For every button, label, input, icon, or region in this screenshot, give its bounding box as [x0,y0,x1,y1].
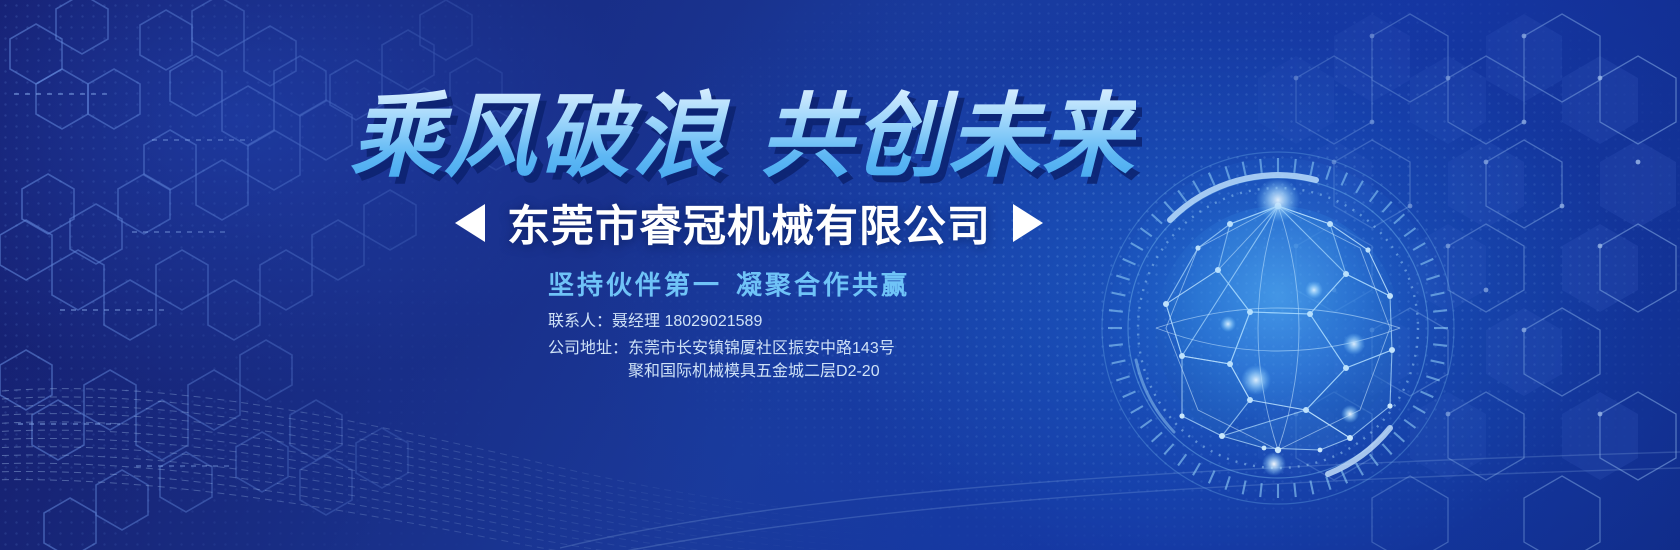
headline-part-2: 共创未来 [760,86,1136,188]
headline-part-1: 乘风破浪 [350,86,726,188]
company-address-label: 公司地址： [548,337,628,383]
company-address-value: 东莞市长安镇锦厦社区振安中路143号聚和国际机械模具五金城二层D2-20 [628,337,898,383]
contact-person-row: 联系人： 聂经理 18029021589 [548,310,898,333]
contact-person-label: 联系人： [548,310,612,333]
triangle-right-icon [1013,204,1043,242]
network-globe-graphic [1078,128,1478,528]
company-name-row: 东莞市睿冠机械有限公司 [455,192,1043,254]
promotional-banner: 乘风破浪共创未来 东莞市睿冠机械有限公司 坚持伙伴第一凝聚合作共赢 联系人： 聂… [0,0,1680,550]
banner-content: 乘风破浪共创未来 东莞市睿冠机械有限公司 坚持伙伴第一凝聚合作共赢 联系人： 聂… [0,0,1080,550]
company-name: 东莞市睿冠机械有限公司 [507,192,991,254]
contact-person-value: 聂经理 18029021589 [612,310,762,333]
slogan-part-2: 凝聚合作共赢 [736,270,910,300]
company-address-row: 公司地址： 东莞市长安镇锦厦社区振安中路143号聚和国际机械模具五金城二层D2-… [548,337,898,383]
triangle-left-icon [455,204,485,242]
slogan-part-1: 坚持伙伴第一 [548,270,722,300]
globe-glow [1108,158,1448,498]
page-title: 乘风破浪共创未来 [350,62,1136,195]
contact-info: 联系人： 聂经理 18029021589 公司地址： 东莞市长安镇锦厦社区振安中… [548,310,898,384]
slogan: 坚持伙伴第一凝聚合作共赢 [548,265,910,302]
